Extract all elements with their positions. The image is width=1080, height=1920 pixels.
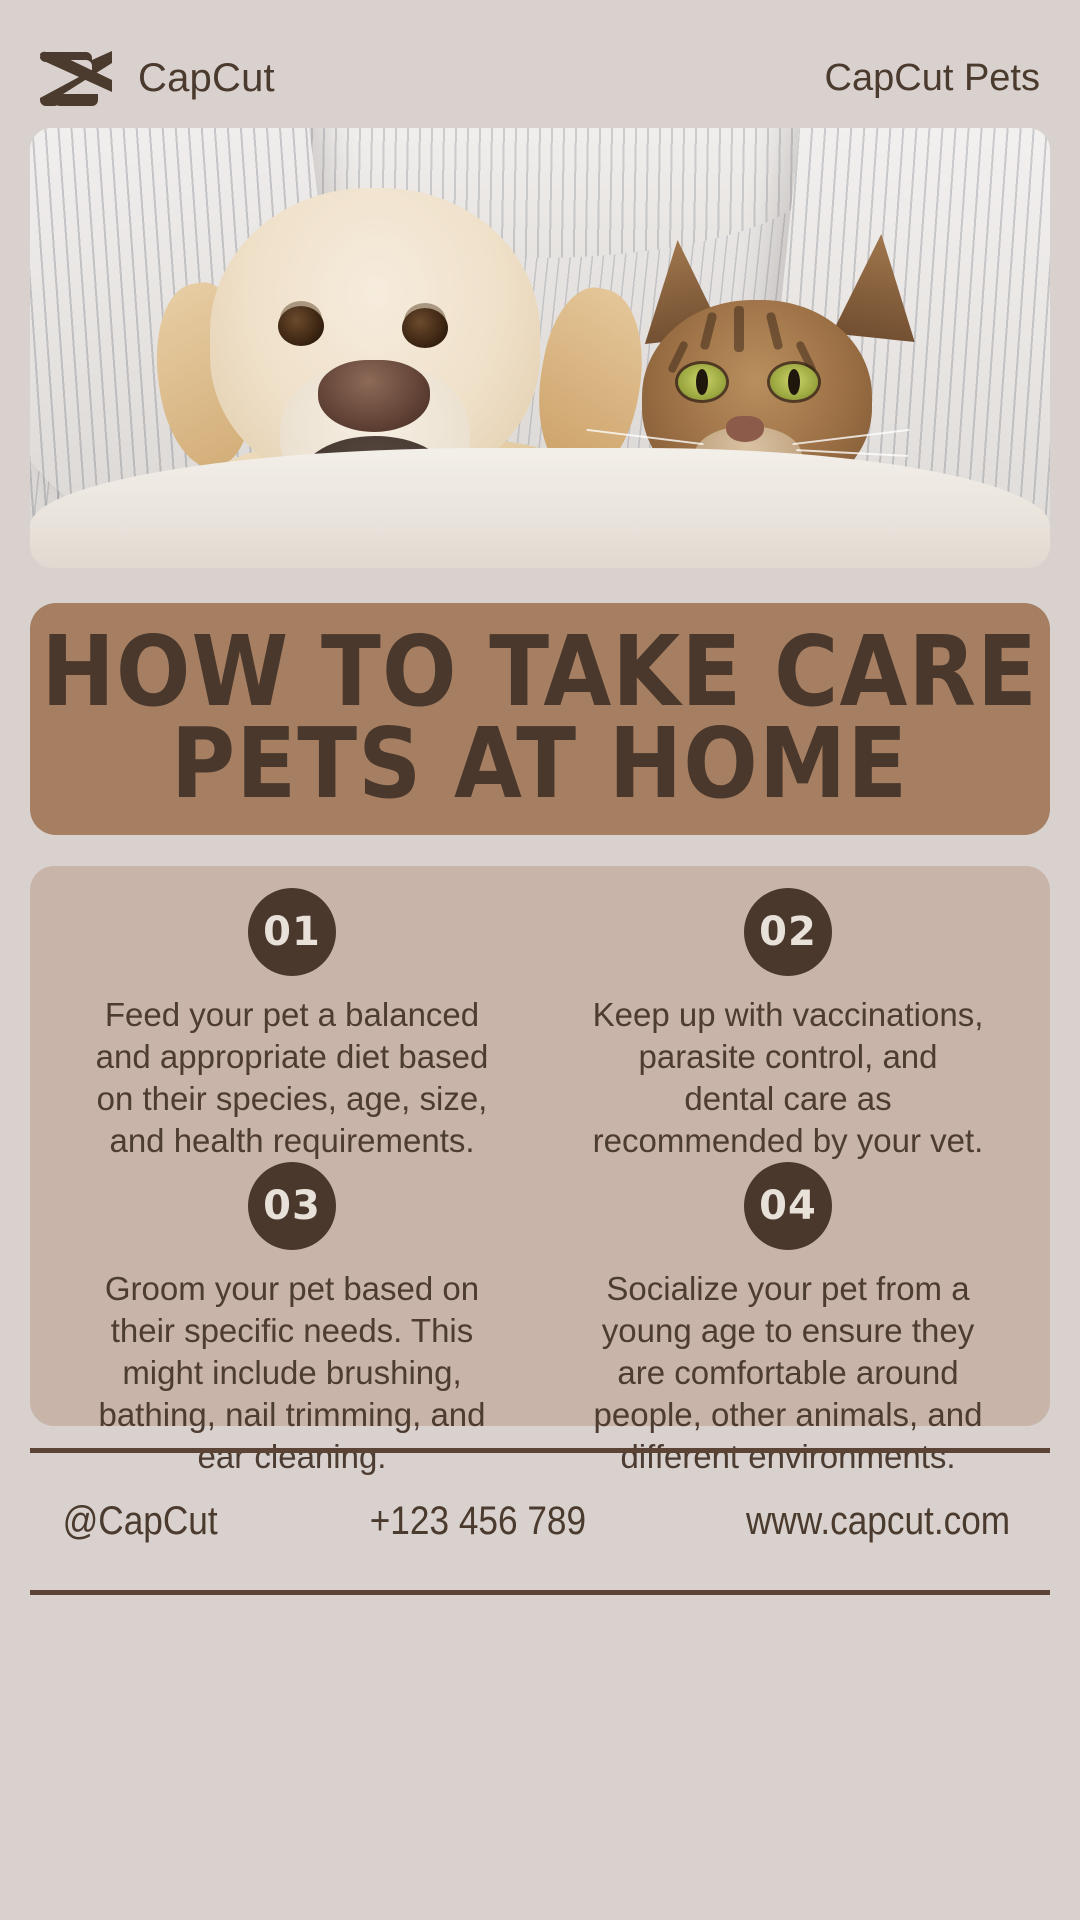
tip-item: 02 Keep up with vaccinations, parasite c… [540,888,1036,1162]
footer-phone[interactable]: +123 456 789 [370,1499,586,1544]
tip-number-badge: 03 [248,1162,336,1250]
tip-text: Feed your pet a balanced and appropriate… [77,994,507,1162]
title-banner: HOW TO TAKE CARE PETS AT HOME [30,603,1050,835]
tip-item: 04 Socialize your pet from a young age t… [540,1162,1036,1478]
footer-rule-top [30,1448,1050,1453]
tip-number-badge: 01 [248,888,336,976]
tip-item: 01 Feed your pet a balanced and appropri… [44,888,540,1162]
tip-number-badge: 04 [744,1162,832,1250]
brand-name: CapCut [138,56,275,101]
tip-number-badge: 02 [744,888,832,976]
dog-eye-left [278,306,324,346]
cat-ear-right [832,234,920,342]
hero-photo [30,128,1050,568]
tip-item: 03 Groom your pet based on their specifi… [44,1162,540,1478]
cat-eye-right [770,364,818,400]
cat-nose [726,416,764,442]
footer-rule-bottom [30,1590,1050,1595]
dog-nose [318,360,430,432]
capcut-logo-icon [40,48,118,108]
footer-website[interactable]: www.capcut.com [746,1499,1010,1544]
title-line-2: PETS AT HOME [171,711,908,820]
cat-eye-left [678,364,726,400]
header-right-label: CapCut Pets [825,57,1040,100]
tip-text: Keep up with vaccinations, parasite cont… [573,994,1003,1162]
page-footer: @CapCut +123 456 789 www.capcut.com [30,1455,1050,1587]
tip-text: Socialize your pet from a young age to e… [573,1268,1003,1478]
page-header: CapCut CapCut Pets [0,38,1080,118]
infographic-page: CapCut CapCut Pets [0,0,1080,1920]
dog-eye-right [402,308,448,348]
tip-text: Groom your pet based on their specific n… [77,1268,507,1478]
brand-block: CapCut [40,48,275,108]
tips-card: 01 Feed your pet a balanced and appropri… [30,866,1050,1426]
hero-photo-illustration [30,128,1050,568]
footer-handle[interactable]: @CapCut [63,1499,218,1544]
